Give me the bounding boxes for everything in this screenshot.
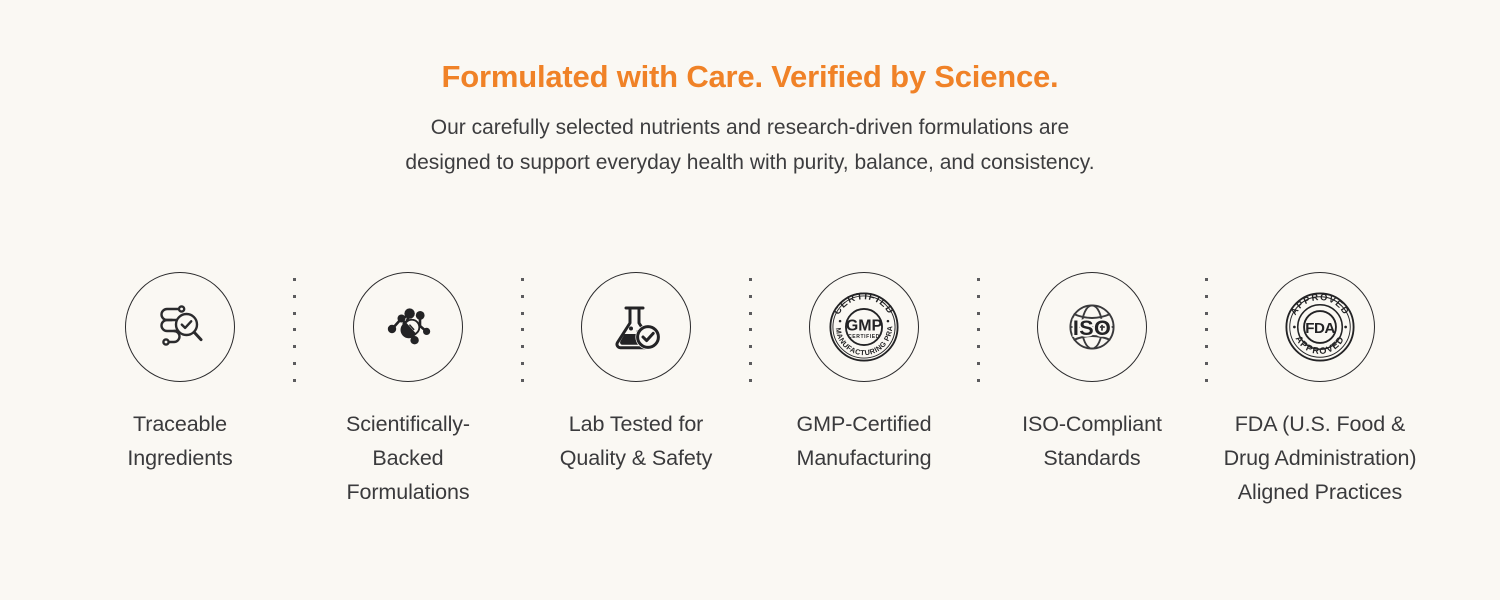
gmp-center-text: GMP [846,317,883,334]
divider-dot [1205,328,1208,331]
divider-dot [1205,362,1208,365]
gmp-top-arc-text: CERTIFIED [832,291,896,317]
traceable-ingredients-icon [148,295,212,359]
divider-dot [749,312,752,315]
divider-dot [521,278,524,281]
divider-dot [977,362,980,365]
badge-label: Lab Tested for Quality & Safety [560,408,713,476]
dotted-divider [962,278,994,382]
divider-dot [1205,295,1208,298]
divider-dot [977,312,980,315]
section-subtitle: Our carefully selected nutrients and res… [0,111,1500,180]
divider-dot [1205,278,1208,281]
badge-strip: Traceable Ingredients [60,272,1440,510]
divider-dot [293,278,296,281]
divider-dot [293,328,296,331]
divider-dot [521,362,524,365]
divider-dot [977,328,980,331]
badge-circle: APPROVED APPROVED FDA [1265,272,1375,382]
badge-circle [125,272,235,382]
fda-bottom-arc-text: APPROVED [1294,334,1347,356]
fda-approved-seal-icon: APPROVED APPROVED FDA [1278,285,1362,369]
iso-center-text: ISO [1073,315,1111,340]
badge-circle: ISO [1037,272,1147,382]
lab-flask-check-icon [604,295,668,359]
divider-dot [749,295,752,298]
trust-badges-section: Formulated with Care. Verified by Scienc… [0,0,1500,600]
badge-item-scientifically-backed[interactable]: Scientifically- Backed Formulations [310,272,506,510]
svg-text:CERTIFIED: CERTIFIED [832,291,896,317]
divider-dot [521,328,524,331]
dotted-divider [1190,278,1222,382]
fda-center-text: FDA [1305,320,1335,337]
divider-dot [521,345,524,348]
divider-dot [1205,312,1208,315]
divider-dot [977,295,980,298]
gmp-certified-seal-icon: CERTIFIED GOOD MANUFACTURING PRACTICE GM… [822,285,906,369]
divider-dot [749,328,752,331]
iso-globe-icon: ISO [1056,291,1128,363]
dotted-divider [734,278,766,382]
divider-dot [293,295,296,298]
badge-item-iso-compliant[interactable]: ISO ISO-Compliant Standards [994,272,1190,476]
dotted-divider [506,278,538,382]
divider-dot [521,312,524,315]
divider-dot [749,362,752,365]
svg-text:APPROVED: APPROVED [1294,334,1347,356]
divider-dot [749,379,752,382]
divider-dot [749,278,752,281]
badge-label: Traceable Ingredients [127,408,232,476]
divider-dot [749,345,752,348]
badge-item-gmp-certified[interactable]: CERTIFIED GOOD MANUFACTURING PRACTICE GM… [766,272,962,476]
section-header: Formulated with Care. Verified by Scienc… [0,0,1500,180]
divider-dot [521,295,524,298]
subtitle-line-1: Our carefully selected nutrients and res… [0,111,1500,146]
divider-dot [977,345,980,348]
badge-item-traceable-ingredients[interactable]: Traceable Ingredients [82,272,278,476]
badge-label: GMP-Certified Manufacturing [797,408,932,476]
page-title: Formulated with Care. Verified by Scienc… [0,58,1500,95]
divider-dot [293,312,296,315]
divider-dot [293,362,296,365]
divider-dot [977,278,980,281]
divider-dot [293,379,296,382]
divider-dot [1205,379,1208,382]
badge-label: Scientifically- Backed Formulations [346,408,470,510]
badge-label: ISO-Compliant Standards [1022,408,1162,476]
badge-circle [581,272,691,382]
dotted-divider [278,278,310,382]
divider-dot [977,379,980,382]
subtitle-line-2: designed to support everyday health with… [0,146,1500,181]
badge-label: FDA (U.S. Food & Drug Administration) Al… [1224,408,1417,510]
divider-dot [1205,345,1208,348]
divider-dot [293,345,296,348]
molecule-capsule-icon [376,295,440,359]
badge-circle [353,272,463,382]
badge-item-lab-tested[interactable]: Lab Tested for Quality & Safety [538,272,734,476]
gmp-center-subtext: CERTIFIED [848,334,880,340]
badge-item-fda-aligned[interactable]: APPROVED APPROVED FDA FDA (U.S. Food & D… [1222,272,1418,510]
badge-circle: CERTIFIED GOOD MANUFACTURING PRACTICE GM… [809,272,919,382]
divider-dot [521,379,524,382]
